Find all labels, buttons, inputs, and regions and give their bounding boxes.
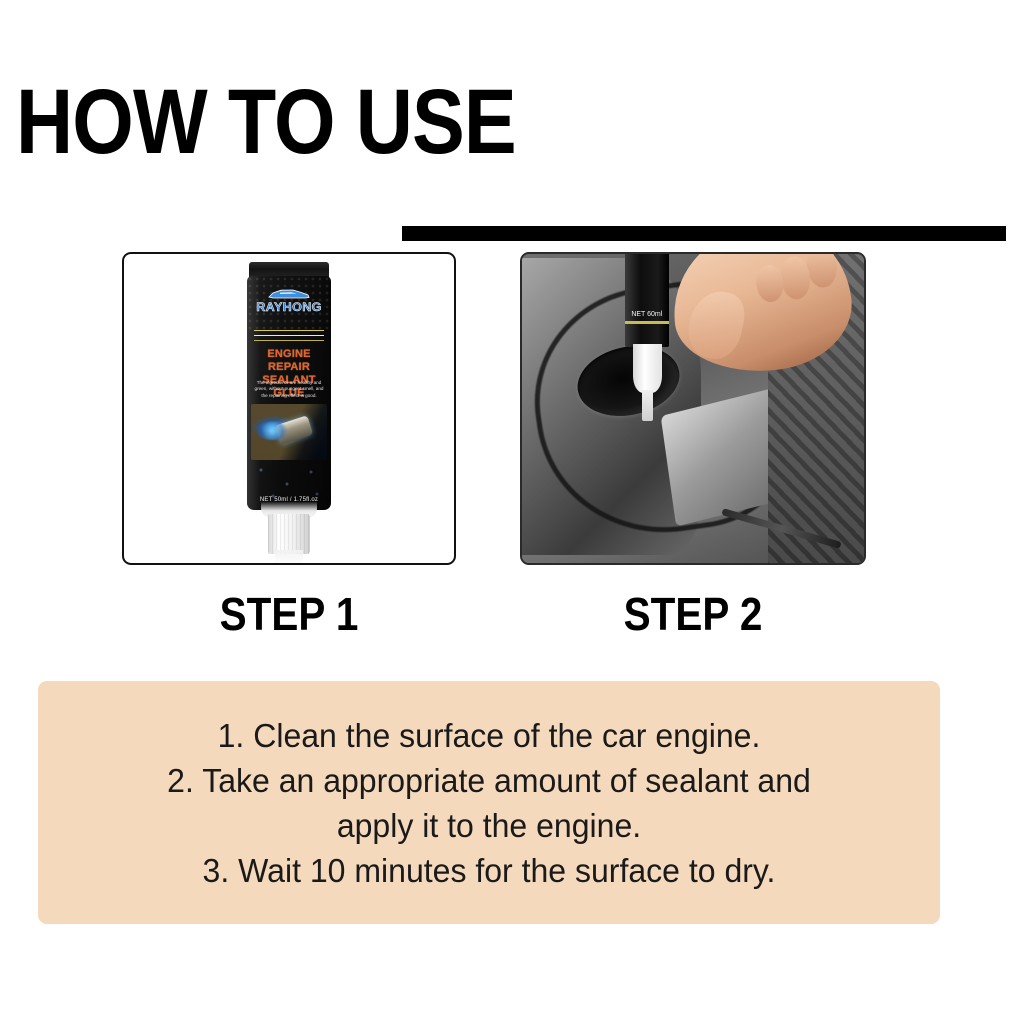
instruction-line-4: 3. Wait 10 minutes for the surface to dr… xyxy=(52,848,927,893)
label-divider-top xyxy=(254,330,324,331)
engine-application-photo: NET 60ml xyxy=(522,254,864,563)
car-silhouette-icon xyxy=(267,288,311,300)
nozzle-ribs-texture xyxy=(268,514,310,554)
product-description: The ingredients are healthy and green, w… xyxy=(253,380,325,399)
instruction-line-2: 2. Take an appropriate amount of sealant… xyxy=(52,758,927,803)
product-tube-illustration: RAYHONG ENGINE REPAIR SEALANT GLUE The i… xyxy=(241,262,337,562)
step-1-image-frame: RAYHONG ENGINE REPAIR SEALANT GLUE The i… xyxy=(122,252,456,565)
tube-body: RAYHONG ENGINE REPAIR SEALANT GLUE The i… xyxy=(247,276,331,510)
step-1-label: STEP 1 xyxy=(142,591,436,637)
header: HOW TO USE xyxy=(0,78,1024,174)
engine-blue-glow xyxy=(255,422,289,440)
instructions-panel: 1. Clean the surface of the car engine. … xyxy=(38,681,940,924)
held-product-tube: NET 60ml xyxy=(625,252,669,347)
held-tube-volume-label: NET 60ml xyxy=(625,311,669,319)
engine-graphic xyxy=(251,404,327,460)
label-divider-bottom xyxy=(254,340,324,341)
instruction-line-3: apply it to the engine. xyxy=(52,803,927,848)
tube-nozzle-tip xyxy=(275,550,303,565)
tube-nozzle-cap xyxy=(268,514,310,554)
step-1-column: RAYHONG ENGINE REPAIR SEALANT GLUE The i… xyxy=(122,252,456,637)
step-2-label: STEP 2 xyxy=(541,591,845,637)
step-2-image-frame: NET 60ml xyxy=(520,252,866,565)
held-tube-nozzle-tip xyxy=(642,390,654,421)
title-underline-rule xyxy=(402,226,1006,241)
brand-name: RAYHONG xyxy=(245,301,333,313)
brand-logo: RAYHONG xyxy=(247,288,331,313)
product-name-line-1: ENGINE REPAIR xyxy=(247,348,331,374)
page-title: HOW TO USE xyxy=(16,78,516,166)
thumb xyxy=(683,286,749,364)
instruction-line-1: 1. Clean the surface of the car engine. xyxy=(52,713,927,758)
step-2-column: NET 60ml STEP 2 xyxy=(520,252,866,637)
label-divider-mid xyxy=(254,335,324,336)
held-tube-nozzle xyxy=(633,344,662,393)
held-tube-gold-band xyxy=(625,321,669,324)
instructions-list: 1. Clean the surface of the car engine. … xyxy=(52,713,927,893)
